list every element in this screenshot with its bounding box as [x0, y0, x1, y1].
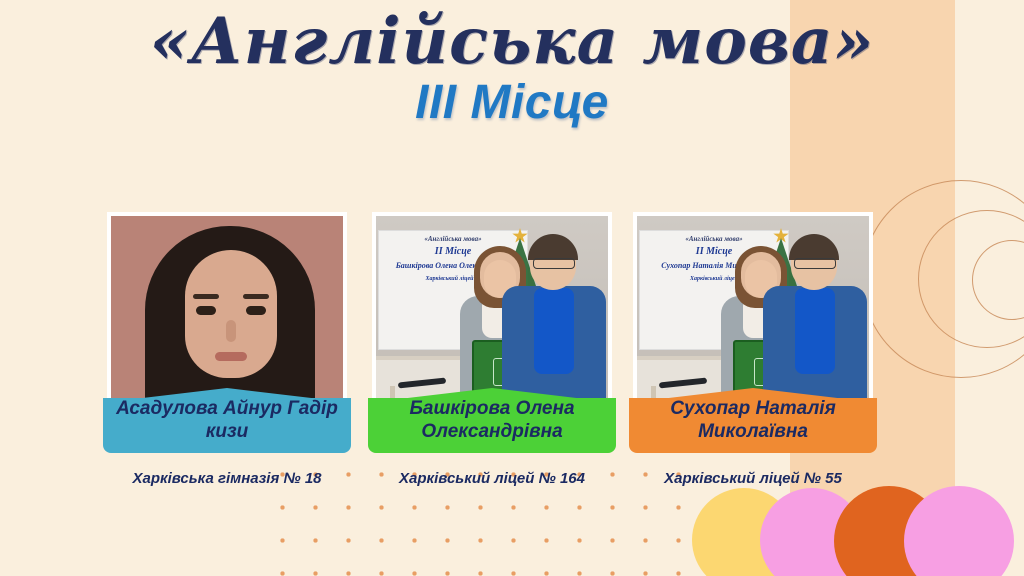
- slide-title-block: «Англійська мова» III Місце: [0, 8, 1024, 130]
- eyebrow-left: [193, 294, 219, 299]
- winner-school: Харківська гімназія № 18: [93, 470, 361, 487]
- man-sweater: [534, 288, 574, 374]
- man-hair: [528, 234, 578, 260]
- winner-name: Асадулова Айнур Гадір кизи: [111, 397, 343, 443]
- winner-card: Асадулова Айнур Гадір кизи Харківська гі…: [107, 212, 347, 450]
- eyebrow-right: [243, 294, 269, 299]
- eye-right: [246, 306, 266, 315]
- page-title: «Англійська мова»: [0, 8, 1024, 75]
- man-sweater: [795, 288, 835, 374]
- eye-left: [196, 306, 216, 315]
- winner-school: Харківський ліцей № 164: [358, 470, 626, 487]
- glasses-icon: [794, 258, 836, 269]
- presentation-slide: «Англійська мова» III Місце А: [0, 0, 1024, 576]
- winner-name: Башкірова Олена Олександрівна: [376, 397, 608, 443]
- winner-card: «Англійська мова» II Місце Башкірова Оле…: [372, 212, 612, 450]
- man-hair: [789, 234, 839, 260]
- mouth-shape: [215, 352, 247, 361]
- page-subtitle: III Місце: [0, 77, 1024, 130]
- glasses-icon: [533, 258, 575, 269]
- winner-school: Харківський ліцей № 55: [619, 470, 887, 487]
- winner-name: Сухопар Наталія Миколаївна: [637, 397, 869, 443]
- winner-card: «Англійська мова» II Місце Сухопар Натал…: [633, 212, 873, 450]
- winners-list: Асадулова Айнур Гадір кизи Харківська гі…: [0, 212, 1024, 512]
- nose-shape: [226, 320, 236, 342]
